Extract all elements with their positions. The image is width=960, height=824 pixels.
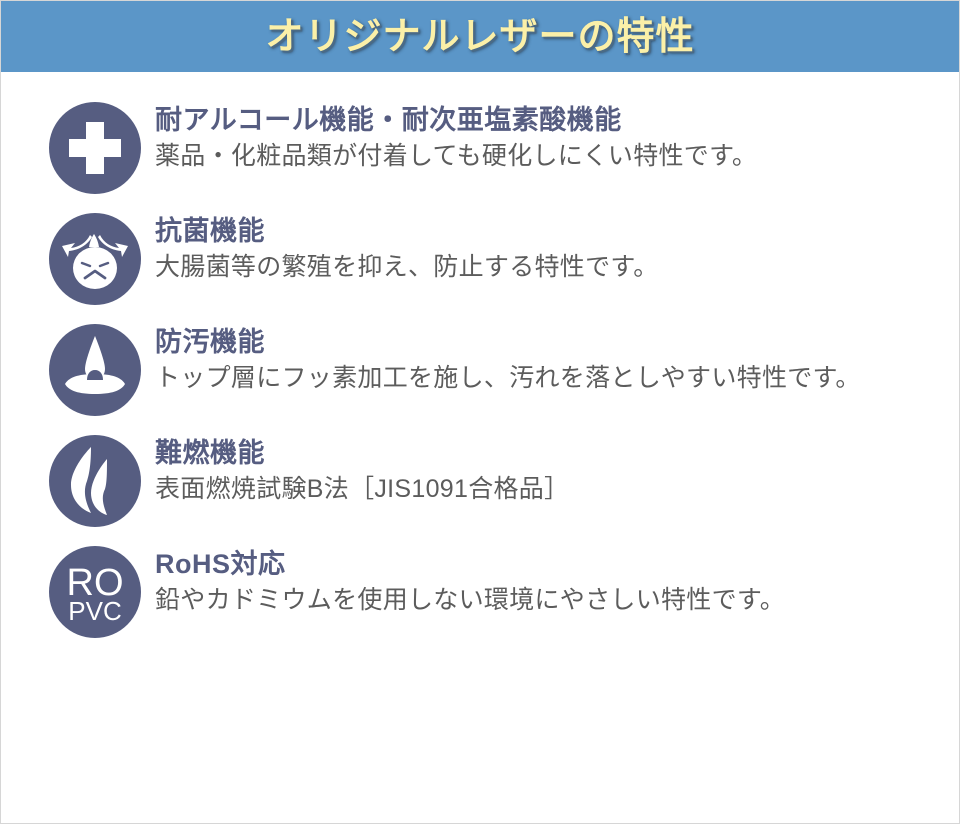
- feature-text-block: RoHS対応 鉛やカドミウムを使用しない環境にやさしい特性です。: [141, 544, 959, 616]
- rohs-pvc-lettering-glyph: RO PVC: [49, 546, 141, 638]
- medical-cross-glyph: [49, 102, 141, 194]
- feature-title: 耐アルコール機能・耐次亜塩素酸機能: [155, 104, 959, 138]
- feature-item-flame-retardant: 難燃機能 表面燃焼試験B法［JIS1091合格品］: [1, 433, 959, 544]
- feature-description: 薬品・化粧品類が付着しても硬化しにくい特性です。: [155, 140, 959, 173]
- header-banner: オリジナルレザーの特性: [1, 1, 959, 72]
- germ-sad-face-glyph: [49, 213, 141, 305]
- feature-item-antibacterial: 抗菌機能 大腸菌等の繁殖を抑え、防止する特性です。: [1, 211, 959, 322]
- feature-item-rohs: RO PVC RoHS対応 鉛やカドミウムを使用しない環境にやさしい特性です。: [1, 544, 959, 655]
- feature-item-anti-stain: 防汚機能 トップ層にフッ素加工を施し、汚れを落としやすい特性です。: [1, 322, 959, 433]
- feature-description: 鉛やカドミウムを使用しない環境にやさしい特性です。: [155, 584, 959, 617]
- flame-icon: [49, 435, 141, 527]
- rohs-pvc-icon: RO PVC: [49, 546, 141, 638]
- feature-item-alcohol-resistance: 耐アルコール機能・耐次亜塩素酸機能 薬品・化粧品類が付着しても硬化しにくい特性で…: [1, 100, 959, 211]
- feature-title: RoHS対応: [155, 548, 959, 582]
- feature-text-block: 防汚機能 トップ層にフッ素加工を施し、汚れを落としやすい特性です。: [141, 322, 959, 394]
- antibacterial-germ-icon: [49, 213, 141, 305]
- feature-description: 表面燃焼試験B法［JIS1091合格品］: [155, 473, 959, 506]
- feature-description: トップ層にフッ素加工を施し、汚れを落としやすい特性です。: [155, 362, 959, 395]
- page-title: オリジナルレザーの特性: [265, 18, 694, 56]
- feature-text-block: 難燃機能 表面燃焼試験B法［JIS1091合格品］: [141, 433, 959, 505]
- feature-text-block: 抗菌機能 大腸菌等の繁殖を抑え、防止する特性です。: [141, 211, 959, 283]
- feature-title: 抗菌機能: [155, 215, 959, 249]
- water-repellent-droplet-icon: [49, 324, 141, 416]
- rohs-icon-bottom-text: PVC: [68, 596, 121, 626]
- feature-list: 耐アルコール機能・耐次亜塩素酸機能 薬品・化粧品類が付着しても硬化しにくい特性で…: [1, 72, 959, 655]
- feature-title: 難燃機能: [155, 437, 959, 471]
- double-flame-glyph: [49, 435, 141, 527]
- droplet-on-surface-glyph: [49, 324, 141, 416]
- medical-cross-icon: [49, 102, 141, 194]
- feature-description: 大腸菌等の繁殖を抑え、防止する特性です。: [155, 251, 959, 284]
- page-root: オリジナルレザーの特性 耐アルコール機能・耐次亜塩素酸機能 薬品・化粧品類が付着…: [0, 0, 960, 824]
- feature-text-block: 耐アルコール機能・耐次亜塩素酸機能 薬品・化粧品類が付着しても硬化しにくい特性で…: [141, 100, 959, 172]
- feature-title: 防汚機能: [155, 326, 959, 360]
